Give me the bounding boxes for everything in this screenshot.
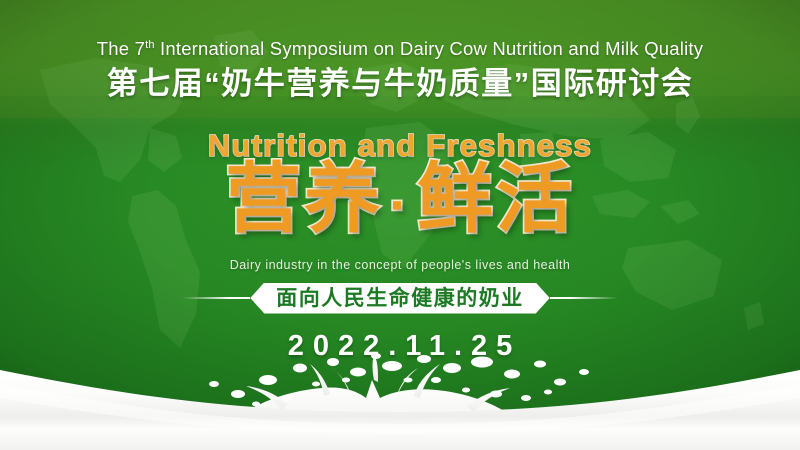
milk-splash-icon <box>0 350 800 450</box>
horizontal-rule-icon-left <box>182 297 250 299</box>
header-chinese-title: 第七届“奶牛营养与牛奶质量”国际研讨会 <box>0 67 800 100</box>
subtitle-banner: 面向人民生命健康的奶业 <box>250 283 550 314</box>
subtitle-banner-row: 面向人民生命健康的奶业 <box>0 282 800 314</box>
poster-header: The 7th International Symposium on Dairy… <box>0 40 800 100</box>
slogan-chinese-right: 鲜活 <box>417 157 575 242</box>
subtitle-english: Dairy industry in the concept of people'… <box>0 258 800 272</box>
slogan-chinese: 营养·鲜活 <box>0 160 800 240</box>
slogan-separator-dot: · <box>383 173 417 236</box>
subtitle-chinese: 面向人民生命健康的奶业 <box>276 288 524 309</box>
slogan-english: Nutrition and Freshness <box>0 128 800 164</box>
header-english-ordinal: th <box>145 39 155 51</box>
conference-poster: The 7th International Symposium on Dairy… <box>0 0 800 450</box>
header-english-rest: International Symposium on Dairy Cow Nut… <box>155 38 704 59</box>
slogan-chinese-left: 营养 <box>225 157 383 242</box>
header-english-prefix: The 7 <box>97 38 145 59</box>
header-english-title: The 7th International Symposium on Dairy… <box>0 40 800 59</box>
horizontal-rule-icon-right <box>550 297 618 299</box>
